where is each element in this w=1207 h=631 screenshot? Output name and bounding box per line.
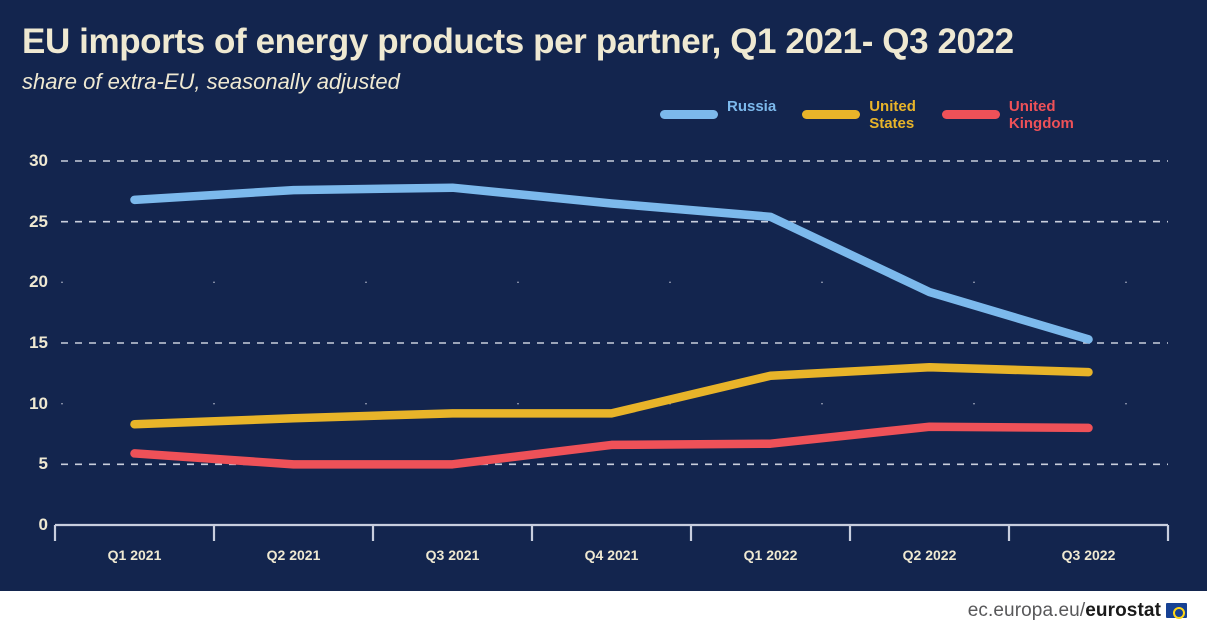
x-axis-tick-label: Q2 2022 — [850, 547, 1010, 563]
x-axis-tick-label: Q3 2021 — [373, 547, 533, 563]
legend-item: United States — [802, 98, 916, 132]
legend-label: United States — [869, 98, 916, 132]
y-axis-tick-label: 25 — [14, 212, 48, 232]
y-axis-tick-label: 15 — [14, 333, 48, 353]
series-line-united-kingdom — [135, 427, 1089, 465]
chart-panel: EU imports of energy products per partne… — [0, 0, 1207, 591]
y-axis-tick-label: 20 — [14, 272, 48, 292]
footer-url-bold: eurostat — [1085, 600, 1161, 621]
series-line-russia — [135, 188, 1089, 340]
footer: ec.europa.eu/eurostat — [0, 591, 1207, 631]
y-axis-tick-label: 5 — [14, 454, 48, 474]
y-axis-tick-label: 30 — [14, 151, 48, 171]
eu-flag-icon — [1166, 603, 1187, 618]
x-axis-tick-label: Q3 2022 — [1009, 547, 1169, 563]
x-axis-tick-label: Q2 2021 — [214, 547, 374, 563]
x-axis-tick-label: Q1 2021 — [55, 547, 215, 563]
legend-swatch-icon — [660, 110, 718, 119]
legend-label: Russia — [727, 98, 776, 115]
legend-label: United Kingdom — [1009, 98, 1074, 132]
y-axis-tick-label: 0 — [14, 515, 48, 535]
y-axis-tick-label: 10 — [14, 394, 48, 414]
chart-legend: RussiaUnited StatesUnited Kingdom — [660, 98, 1190, 144]
footer-source: ec.europa.eu/eurostat — [968, 600, 1187, 622]
legend-swatch-icon — [942, 110, 1000, 119]
page-subtitle: share of extra-EU, seasonally adjusted — [22, 68, 722, 96]
x-axis-tick-label: Q1 2022 — [691, 547, 851, 563]
page-title: EU imports of energy products per partne… — [22, 22, 1122, 62]
x-axis-tick-label: Q4 2021 — [532, 547, 692, 563]
legend-item: Russia — [660, 98, 776, 119]
legend-swatch-icon — [802, 110, 860, 119]
series-line-united-states — [135, 367, 1089, 424]
legend-item: United Kingdom — [942, 98, 1074, 132]
footer-url-plain: ec.europa.eu/ — [968, 600, 1086, 621]
chart-page: EU imports of energy products per partne… — [0, 0, 1207, 631]
